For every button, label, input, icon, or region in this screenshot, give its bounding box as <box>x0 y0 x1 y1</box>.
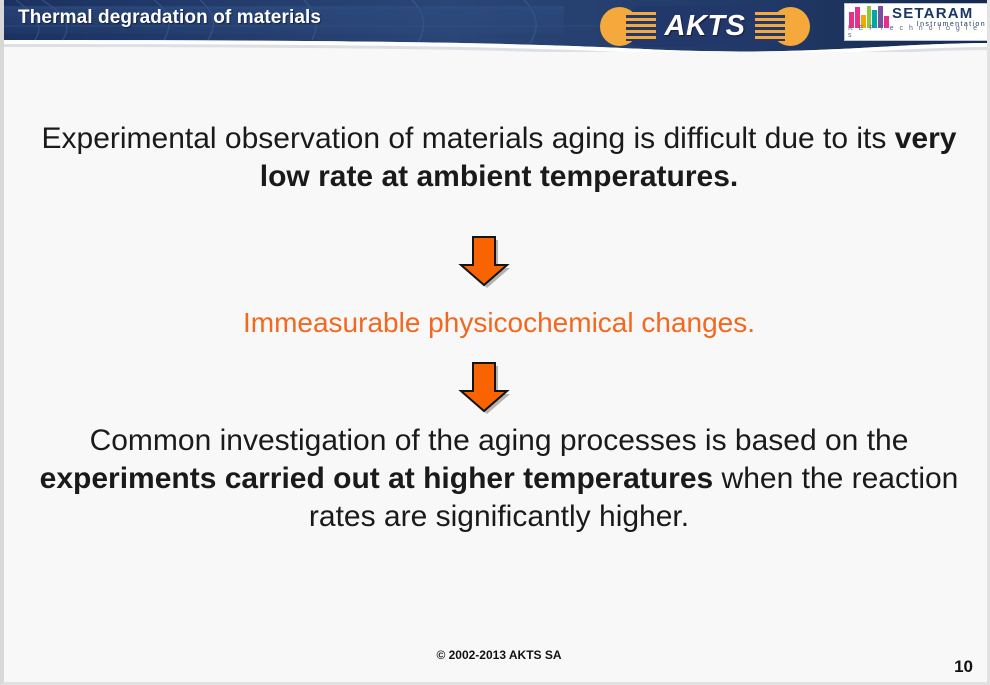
paragraph-conclusion: Common investigation of the aging proces… <box>4 422 990 536</box>
setaram-logo-tagline: K E P T e c h n o l o g i e s <box>848 25 986 39</box>
setaram-logo: SETARAM Instrumentation K E P T e c h n … <box>844 3 990 41</box>
slide-canvas: Thermal degradation of materials AKTS SE… <box>0 0 990 685</box>
page-title: Thermal degradation of materials <box>18 7 321 29</box>
slide-header: Thermal degradation of materials <box>4 0 990 52</box>
akts-logo-wordmark: AKTS <box>600 6 810 47</box>
paragraph-highlight: Immeasurable physicochemical changes. <box>4 306 990 340</box>
copyright-notice: © 2002-2013 AKTS SA <box>4 648 990 662</box>
page-number: 10 <box>954 657 973 677</box>
down-arrow-icon <box>456 232 512 288</box>
down-arrow-icon <box>456 358 512 414</box>
paragraph-intro-normal: Experimental observation of materials ag… <box>42 122 895 155</box>
akts-logo: AKTS <box>600 6 810 47</box>
setaram-logo-name: SETARAM <box>892 6 987 21</box>
paragraph-intro: Experimental observation of materials ag… <box>4 120 990 196</box>
paragraph-conclusion-bold: experiments carried out at higher temper… <box>40 462 714 495</box>
paragraph-conclusion-normal-1: Common investigation of the aging proces… <box>90 424 909 457</box>
